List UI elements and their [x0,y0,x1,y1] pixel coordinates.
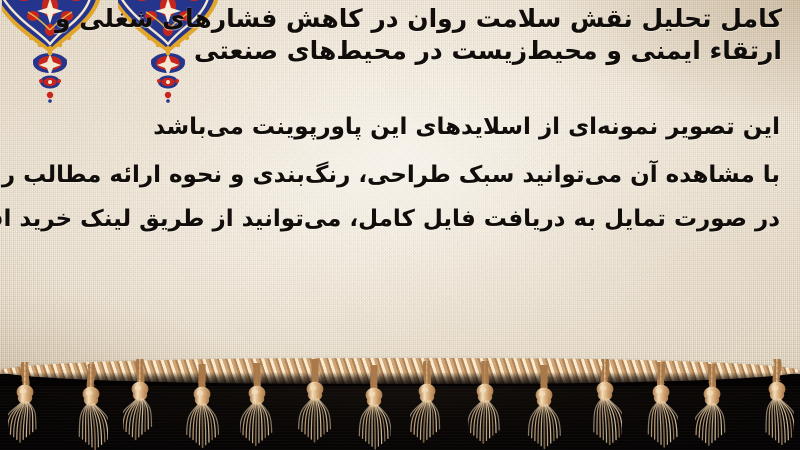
carpet-tassel [357,365,391,450]
carpet-tassel [240,363,274,449]
slide-body-line-2: با مشاهده آن می‌توانید سبک طراحی، رنگ‌بن… [0,161,780,189]
slide-body-line-3: در صورت تمایل به دریافت فایل کامل، می‌تو… [0,205,780,233]
carpet-tassel [644,362,678,448]
carpet-tassel [468,361,502,447]
carpet-tassel [123,359,157,445]
carpet-tassel [588,359,622,445]
carpet-tassel [74,364,108,450]
slide-title-line-1: کامل تحلیل نقش سلامت روان در کاهش فشارها… [55,4,782,34]
carpet-tassel [298,359,332,445]
slide-title-line-2: ارتقاء ایمنی و محیط‌زیست در محیط‌های صنع… [194,36,782,66]
carpet-tassel [8,362,42,448]
carpet-knotted-fringe-icon [0,360,800,450]
carpet-tassel [760,359,794,445]
carpet-tassel [410,361,444,447]
slide-body-line-1: این تصویر نمونه‌ای از اسلایدهای این پاور… [153,113,780,141]
carpet-tassel [185,364,219,450]
powerpoint-slide: کامل تحلیل نقش سلامت روان در کاهش فشارها… [0,0,800,450]
carpet-tassel [695,364,729,450]
carpet-tassel [527,365,561,450]
